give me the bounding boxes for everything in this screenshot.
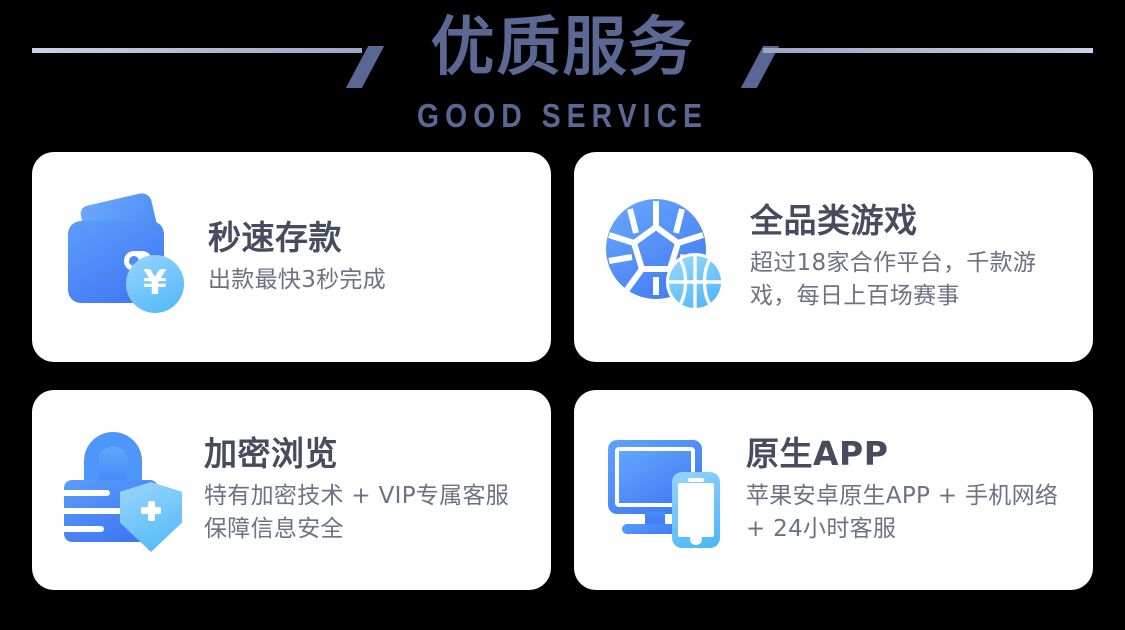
feature-card-instant-deposit[interactable]: ¥ 秒速存款 出款最快3秒完成 bbox=[32, 152, 551, 362]
card-description: 苹果安卓原生APP + 手机网络 + 24小时客服 bbox=[746, 480, 1067, 546]
page-title: 优质服务 bbox=[0, 8, 1125, 88]
feature-card-native-app[interactable]: 原生APP 苹果安卓原生APP + 手机网络 + 24小时客服 bbox=[574, 390, 1093, 590]
monitor-phone-icon bbox=[604, 428, 728, 552]
lock-shield-icon bbox=[62, 428, 186, 552]
soccer-basketball-icon bbox=[604, 193, 732, 321]
card-description: 出款最快3秒完成 bbox=[208, 264, 525, 297]
page-subtitle: GOOD SERVICE bbox=[79, 96, 1047, 136]
card-title: 原生APP bbox=[746, 434, 1067, 474]
card-description: 超过18家合作平台，千款游戏，每日上百场赛事 bbox=[750, 247, 1067, 313]
feature-card-all-games[interactable]: 全品类游戏 超过18家合作平台，千款游戏，每日上百场赛事 bbox=[574, 152, 1093, 362]
card-text-block: 加密浏览 特有加密技术 + VIP专属客服保障信息安全 bbox=[204, 434, 525, 546]
page-header: 优质服务 GOOD SERVICE bbox=[0, 0, 1125, 150]
card-text-block: 原生APP 苹果安卓原生APP + 手机网络 + 24小时客服 bbox=[746, 434, 1067, 546]
phone-home-button bbox=[690, 533, 702, 545]
yen-symbol: ¥ bbox=[143, 266, 167, 300]
phone-screen bbox=[678, 483, 714, 537]
card-title: 加密浏览 bbox=[204, 434, 525, 474]
plus-cross-icon bbox=[141, 507, 161, 514]
yen-coin-icon: ¥ bbox=[126, 255, 184, 313]
lock-slot-line bbox=[64, 526, 104, 532]
lock-slot-line bbox=[64, 490, 110, 496]
card-text-block: 全品类游戏 超过18家合作平台，千款游戏，每日上百场赛事 bbox=[750, 201, 1067, 313]
card-text-block: 秒速存款 出款最快3秒完成 bbox=[208, 218, 525, 297]
phone-icon bbox=[672, 472, 720, 548]
phone-speaker bbox=[688, 478, 704, 482]
card-description: 特有加密技术 + VIP专属客服保障信息安全 bbox=[204, 480, 525, 546]
card-title: 秒速存款 bbox=[208, 218, 525, 258]
feature-card-grid: ¥ 秒速存款 出款最快3秒完成 bbox=[32, 152, 1093, 590]
feature-card-encrypted-browsing[interactable]: 加密浏览 特有加密技术 + VIP专属客服保障信息安全 bbox=[32, 390, 551, 590]
wallet-yen-icon: ¥ bbox=[62, 193, 190, 321]
lock-slot-line bbox=[64, 508, 124, 514]
basketball-icon bbox=[666, 253, 724, 311]
card-title: 全品类游戏 bbox=[750, 201, 1067, 241]
